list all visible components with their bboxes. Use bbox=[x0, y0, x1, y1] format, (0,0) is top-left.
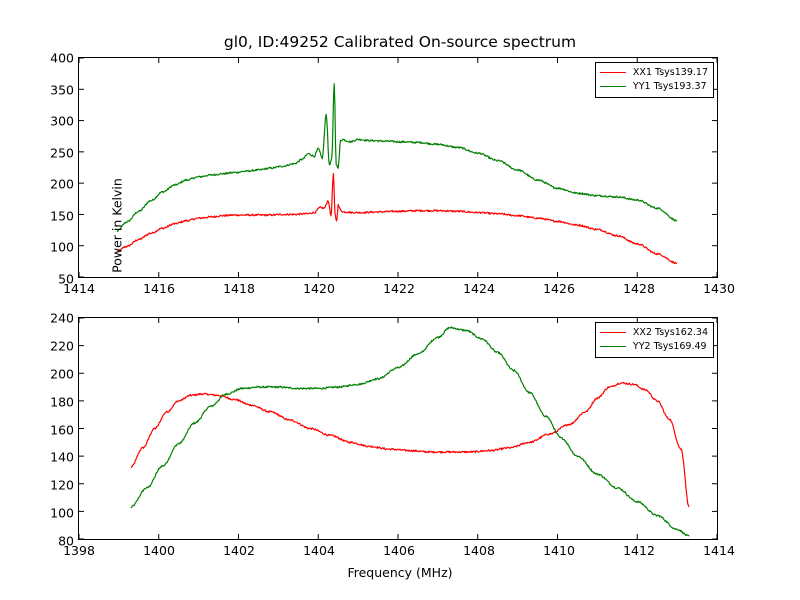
legend-entry: YY1 Tsys193.37 bbox=[600, 80, 708, 94]
x-tick-label: 1418 bbox=[223, 281, 255, 296]
legend-line-icon bbox=[600, 72, 626, 73]
y-tick-label: 300 bbox=[50, 114, 74, 129]
top-panel-legend: XX1 Tsys139.17YY1 Tsys193.37 bbox=[595, 62, 714, 98]
x-tick-label: 1426 bbox=[543, 281, 575, 296]
legend-entry: XX2 Tsys162.34 bbox=[600, 326, 708, 340]
bottom-panel-axes: 8010012014016018020022024013981400140214… bbox=[78, 317, 718, 540]
x-tick-label: 1422 bbox=[383, 281, 415, 296]
y-tick-label: 240 bbox=[50, 311, 74, 326]
y-tick-label: 350 bbox=[50, 82, 74, 97]
legend-label: YY2 Tsys169.49 bbox=[633, 340, 707, 354]
x-tick-label: 1412 bbox=[623, 543, 655, 558]
series-line bbox=[117, 174, 677, 264]
y-tick-label: 150 bbox=[50, 208, 74, 223]
x-tick-label: 1420 bbox=[303, 281, 335, 296]
x-tick-label: 1402 bbox=[223, 543, 255, 558]
x-tick-label: 1428 bbox=[623, 281, 655, 296]
x-tick-label: 1400 bbox=[143, 543, 175, 558]
bottom-panel-legend: XX2 Tsys162.34YY2 Tsys169.49 bbox=[595, 322, 714, 358]
series-line bbox=[131, 327, 689, 536]
x-tick-label: 1416 bbox=[143, 281, 175, 296]
figure-title: gl0, ID:49252 Calibrated On-source spect… bbox=[0, 33, 800, 51]
legend-entry: YY2 Tsys169.49 bbox=[600, 340, 708, 354]
y-tick-label: 180 bbox=[50, 394, 74, 409]
legend-entry: XX1 Tsys139.17 bbox=[600, 66, 708, 80]
x-tick-label: 1414 bbox=[703, 543, 735, 558]
legend-line-icon bbox=[600, 346, 626, 347]
top-panel-axes: Power in Kelvin 501001502002503003504001… bbox=[78, 57, 718, 278]
y-tick-label: 140 bbox=[50, 450, 74, 465]
bottom-panel-xlabel: Frequency (MHz) bbox=[0, 565, 800, 580]
top-panel-ylabel: Power in Kelvin bbox=[110, 156, 125, 296]
y-tick-label: 220 bbox=[50, 338, 74, 353]
y-tick-label: 200 bbox=[50, 366, 74, 381]
legend-label: YY1 Tsys193.37 bbox=[633, 80, 707, 94]
y-tick-label: 160 bbox=[50, 422, 74, 437]
legend-label: XX1 Tsys139.17 bbox=[633, 66, 708, 80]
x-tick-label: 1406 bbox=[383, 543, 415, 558]
x-tick-label: 1398 bbox=[63, 543, 95, 558]
x-tick-label: 1424 bbox=[463, 281, 495, 296]
series-line bbox=[117, 84, 677, 232]
y-tick-label: 200 bbox=[50, 177, 74, 192]
x-tick-label: 1410 bbox=[543, 543, 575, 558]
y-tick-label: 250 bbox=[50, 145, 74, 160]
series-line bbox=[131, 382, 689, 507]
x-tick-label: 1430 bbox=[703, 281, 735, 296]
y-tick-label: 100 bbox=[50, 506, 74, 521]
legend-label: XX2 Tsys162.34 bbox=[633, 326, 708, 340]
legend-line-icon bbox=[600, 86, 626, 87]
x-tick-label: 1404 bbox=[303, 543, 335, 558]
y-tick-label: 100 bbox=[50, 240, 74, 255]
spectrum-figure: gl0, ID:49252 Calibrated On-source spect… bbox=[0, 0, 800, 600]
y-tick-label: 120 bbox=[50, 478, 74, 493]
legend-line-icon bbox=[600, 332, 626, 333]
x-tick-label: 1408 bbox=[463, 543, 495, 558]
x-tick-label: 1414 bbox=[63, 281, 95, 296]
y-tick-label: 400 bbox=[50, 51, 74, 66]
